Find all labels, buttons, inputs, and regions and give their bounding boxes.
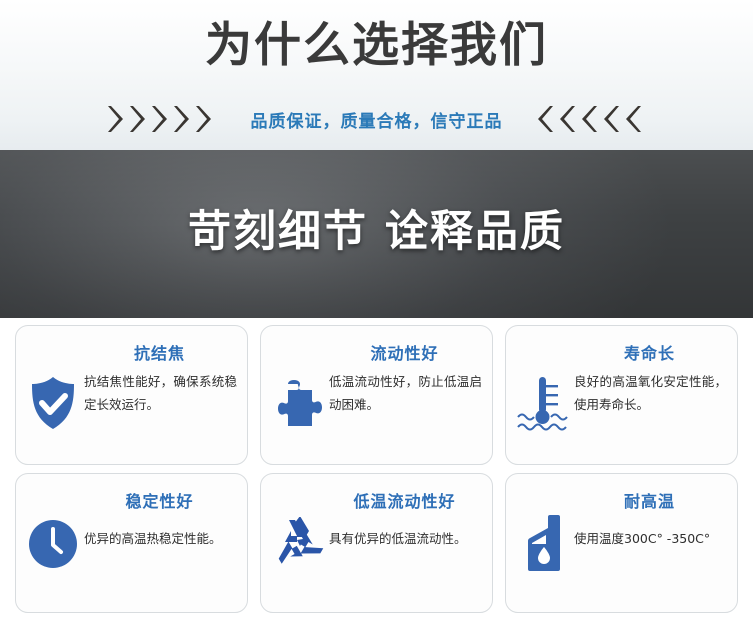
feature-card-wendingxing[interactable]: 稳定性好 优异的高温热稳定性能。	[15, 473, 248, 613]
recycle-icon	[267, 514, 329, 574]
chevron-right-icon	[129, 104, 146, 134]
page-header: 为什么选择我们 品质保证，质量合格，信守正品	[0, 0, 753, 150]
banner-headline: 苛刻细节 诠释品质	[0, 202, 753, 262]
oil-jug-icon	[512, 514, 574, 574]
header-accent-strip: 品质保证，质量合格，信守正品	[0, 96, 753, 142]
feature-card-body: 优异的高温热稳定性能。	[22, 514, 239, 606]
promo-page: 为什么选择我们 品质保证，质量合格，信守正品 苛刻细节 诠释品质	[0, 0, 753, 625]
chevron-left-icon	[603, 104, 620, 134]
puzzle-piece-icon	[267, 366, 329, 440]
feature-card-title: 寿命长	[570, 340, 729, 364]
feature-card-text: 低温流动性好，防止低温启动困难。	[329, 366, 484, 416]
feature-card-liudongxing[interactable]: 流动性好 低温流动性好，防止低温启动困难。	[260, 325, 493, 465]
feature-card-body: 抗结焦性能好，确保系统稳定长效运行。	[22, 366, 239, 458]
thermometer-waves-icon	[512, 366, 574, 440]
shield-check-icon	[22, 366, 84, 440]
feature-card-title: 流动性好	[325, 340, 484, 364]
page-title: 为什么选择我们	[0, 18, 753, 74]
feature-card-diwenliudong[interactable]: 低温流动性好	[260, 473, 493, 613]
quality-banner: 苛刻细节 诠释品质	[0, 150, 753, 318]
chevron-right-icon	[151, 104, 168, 134]
feature-card-title: 耐高温	[570, 488, 729, 512]
feature-card-text: 优异的高温热稳定性能。	[84, 514, 239, 548]
chevron-left-icon	[625, 104, 642, 134]
feature-card-text: 使用温度300C° -350C°	[574, 514, 729, 548]
feature-card-title: 稳定性好	[80, 488, 239, 512]
chevrons-right-group	[537, 104, 647, 134]
chevron-left-icon	[581, 104, 598, 134]
chevron-right-icon	[173, 104, 190, 134]
feature-card-grid: 抗结焦 抗结焦性能好，确保系统稳定长效运行。 流动性好	[0, 325, 753, 613]
header-subtitle: 品质保证，质量合格，信守正品	[251, 107, 503, 132]
chevrons-left-group	[107, 104, 217, 134]
chevron-right-icon	[107, 104, 124, 134]
feature-card-text: 抗结焦性能好，确保系统稳定长效运行。	[84, 366, 239, 416]
chevron-left-icon	[559, 104, 576, 134]
chevron-left-icon	[537, 104, 554, 134]
feature-card-title: 抗结焦	[80, 340, 239, 364]
feature-card-kangjiejiao[interactable]: 抗结焦 抗结焦性能好，确保系统稳定长效运行。	[15, 325, 248, 465]
feature-card-text: 具有优异的低温流动性。	[329, 514, 484, 548]
feature-card-body: 使用温度300C° -350C°	[512, 514, 729, 606]
feature-card-body: 低温流动性好，防止低温启动困难。	[267, 366, 484, 458]
feature-card-body: 具有优异的低温流动性。	[267, 514, 484, 606]
feature-card-naigaowen[interactable]: 耐高温 使用温度300C° -350C°	[505, 473, 738, 613]
clock-icon	[22, 514, 84, 574]
feature-card-body: 良好的高温氧化安定性能，使用寿命长。	[512, 366, 729, 458]
feature-card-text: 良好的高温氧化安定性能，使用寿命长。	[574, 366, 729, 416]
feature-card-title: 低温流动性好	[325, 488, 484, 512]
chevron-right-icon	[195, 104, 212, 134]
feature-card-shoumingchang[interactable]: 寿命长 良好的高温氧化安定性能，使用寿命长。	[505, 325, 738, 465]
